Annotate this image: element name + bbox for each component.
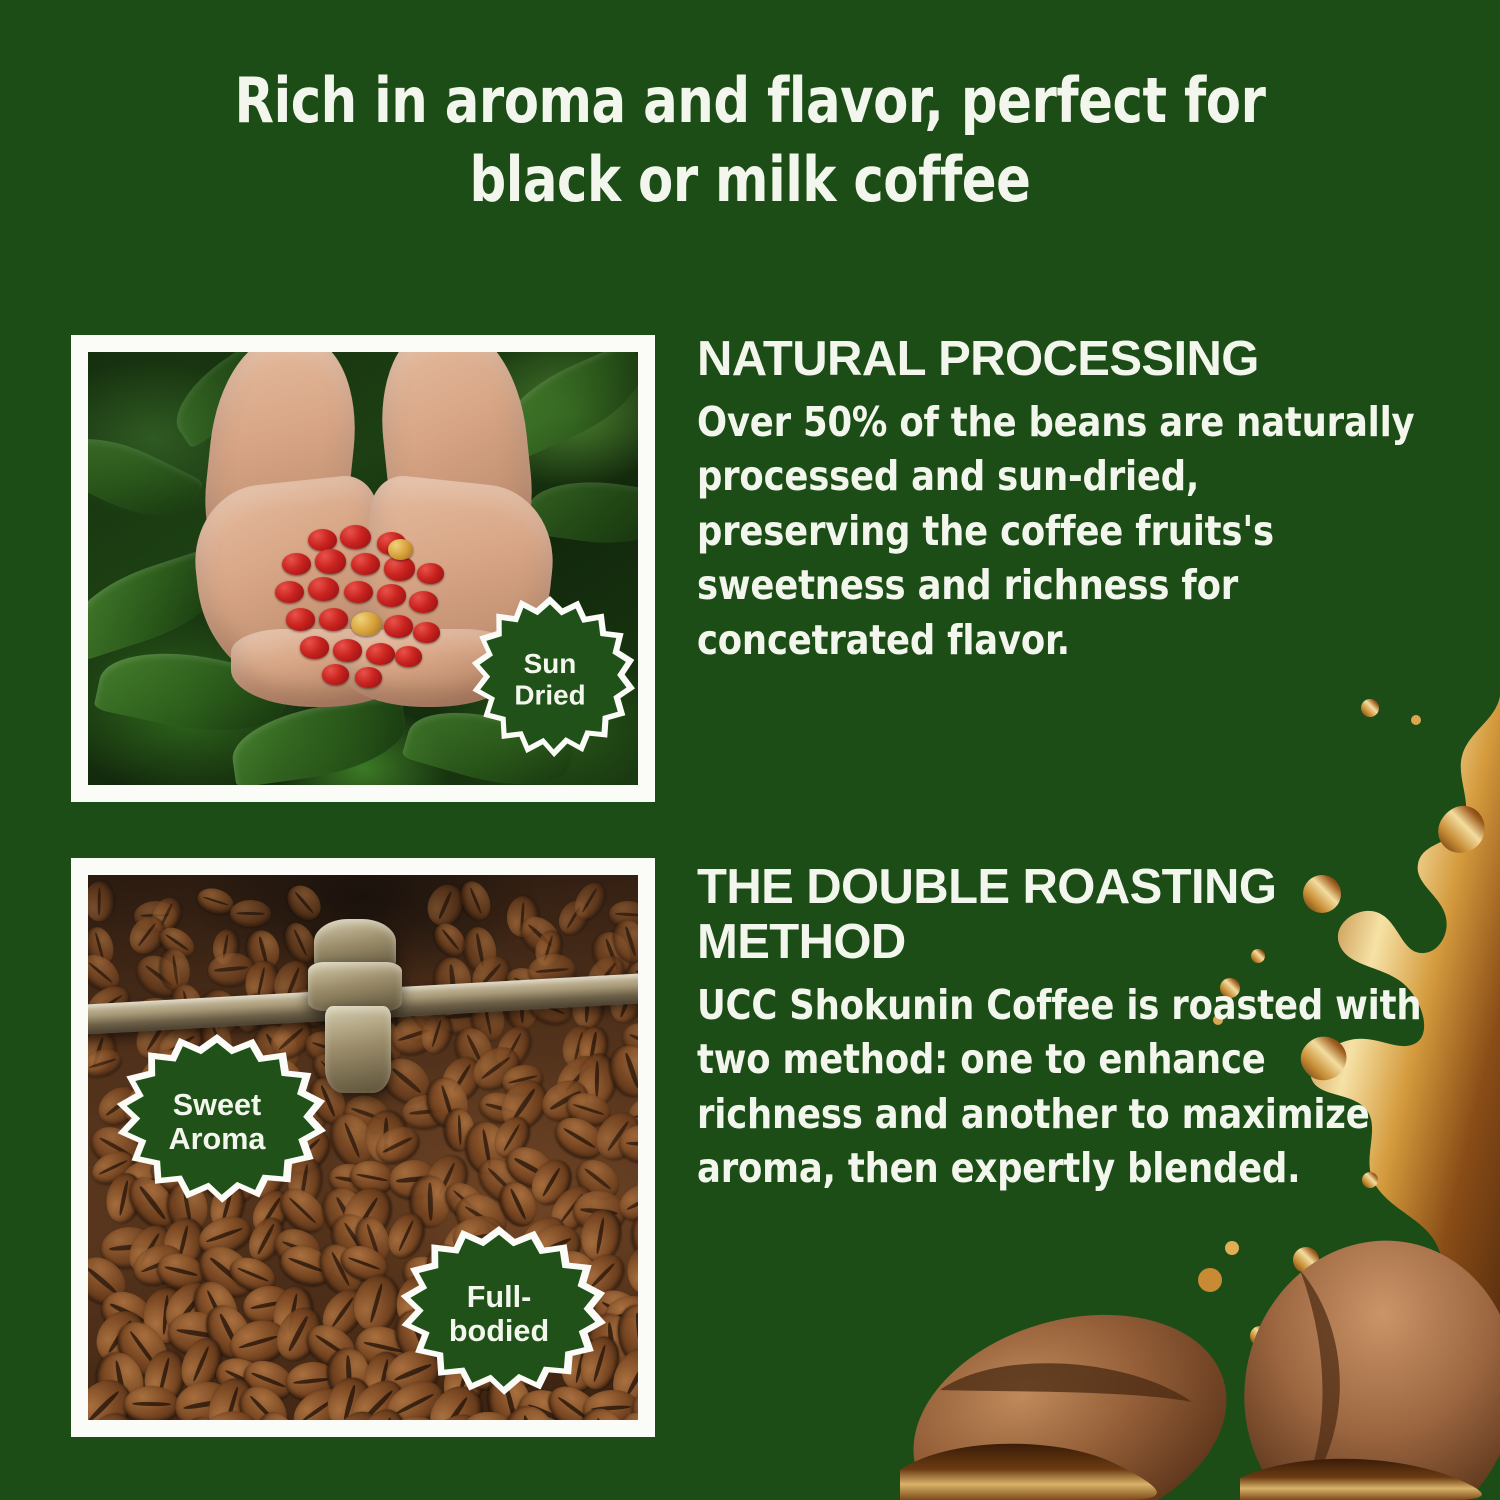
page-headline: Rich in aroma and flavor, perfect for bl… [143, 62, 1357, 219]
bean-shape [88, 881, 114, 921]
coffee-cherries-cluster [275, 525, 457, 698]
coffee-beans-icon [880, 1240, 1500, 1500]
section-body-double-roasting: UCC Shokunin Coffee is roasted with two … [697, 978, 1422, 1196]
product-feature-banner: Rich in aroma and flavor, perfect for bl… [0, 0, 1500, 1500]
section-heading-natural-processing: NATURAL PROCESSING [697, 332, 1452, 387]
section-natural-processing: NATURAL PROCESSING Over 50% of the beans… [697, 332, 1452, 667]
section-heading-double-roasting: THE DOUBLE ROASTING METHOD [697, 860, 1452, 970]
bean-shape [230, 900, 272, 928]
roaster-hub-collar [308, 962, 402, 1011]
section-body-natural-processing: Over 50% of the beans are naturally proc… [697, 395, 1422, 668]
roaster-hub-shaft [325, 1006, 391, 1093]
bean-shape [281, 879, 328, 927]
bean-shape [456, 877, 496, 924]
section-double-roasting: THE DOUBLE ROASTING METHOD UCC Shokunin … [697, 860, 1452, 1196]
bean-shape [627, 1246, 638, 1296]
